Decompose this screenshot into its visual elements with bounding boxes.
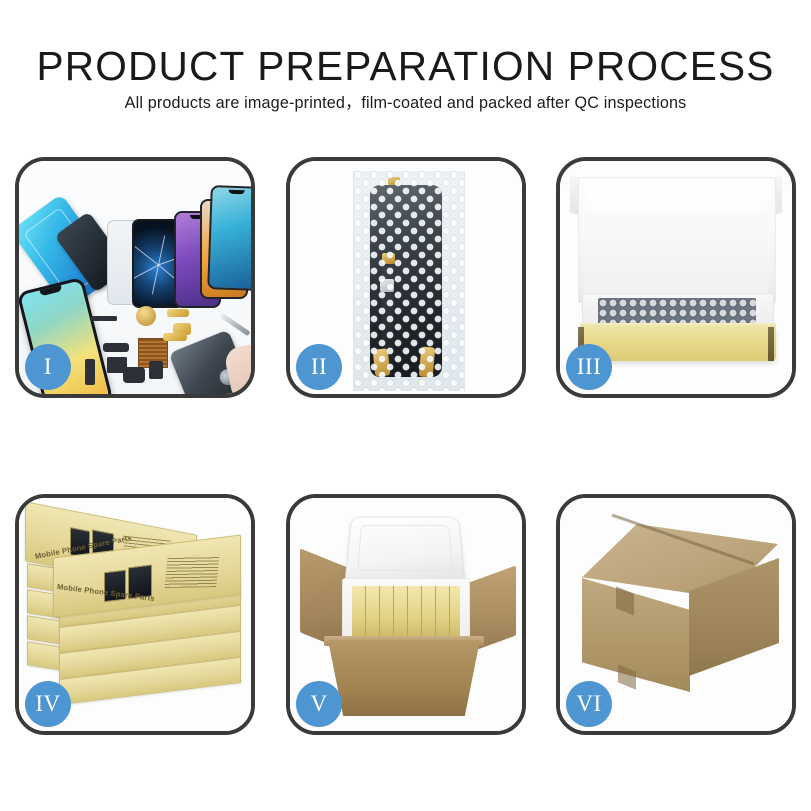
page-header: PRODUCT PREPARATION PROCESS All products… (0, 0, 811, 140)
step-badge-1: I (25, 344, 71, 390)
speaker-icon (123, 367, 145, 383)
process-step-grid: I II (15, 157, 796, 735)
sim-tray-icon (85, 359, 95, 385)
vibrator-coil-icon (136, 306, 156, 326)
step-badge-5: V (296, 681, 342, 727)
step-badge-2: II (296, 344, 342, 390)
step-badge-4: IV (25, 681, 71, 727)
packed-unit (366, 586, 380, 636)
packed-unit (380, 586, 394, 636)
power-button-icon (149, 361, 163, 379)
packed-unit (394, 586, 408, 636)
packed-unit (422, 586, 436, 636)
foam-cavity (352, 586, 460, 636)
page-subtitle: All products are image-printed，film-coat… (0, 93, 811, 113)
process-step-card-2[interactable]: II (286, 157, 526, 398)
process-step-card-1[interactable]: I (15, 157, 255, 398)
bubble-texture (354, 171, 464, 391)
foam-lid-icon (344, 517, 465, 584)
page-title: PRODUCT PREPARATION PROCESS (4, 44, 807, 88)
packed-unit (352, 586, 366, 636)
step-badge-6: VI (566, 681, 612, 727)
packed-unit (450, 586, 460, 636)
step-badge-3: III (566, 344, 612, 390)
box-inner-panel (584, 211, 768, 301)
process-step-card-3[interactable]: III (556, 157, 796, 398)
process-step-card-5[interactable]: V (286, 494, 526, 735)
packed-unit (436, 586, 450, 636)
earpiece-mesh-icon (91, 316, 117, 321)
charging-port-flex-icon (163, 333, 187, 341)
phone-blue-icon (207, 185, 251, 291)
box-corner-right (768, 327, 774, 361)
carton-body-icon (328, 640, 480, 716)
box-spec-lines (164, 555, 219, 588)
process-step-card-4[interactable]: Mobile Phone Spare Parts Mobile Phone Sp… (15, 494, 255, 735)
packed-unit (408, 586, 422, 636)
flex-cable-gold-icon (167, 309, 189, 317)
process-step-card-6[interactable]: VI (556, 494, 796, 735)
bubble-wrap-bag-icon (353, 171, 465, 391)
small-flex-icon (103, 343, 129, 352)
